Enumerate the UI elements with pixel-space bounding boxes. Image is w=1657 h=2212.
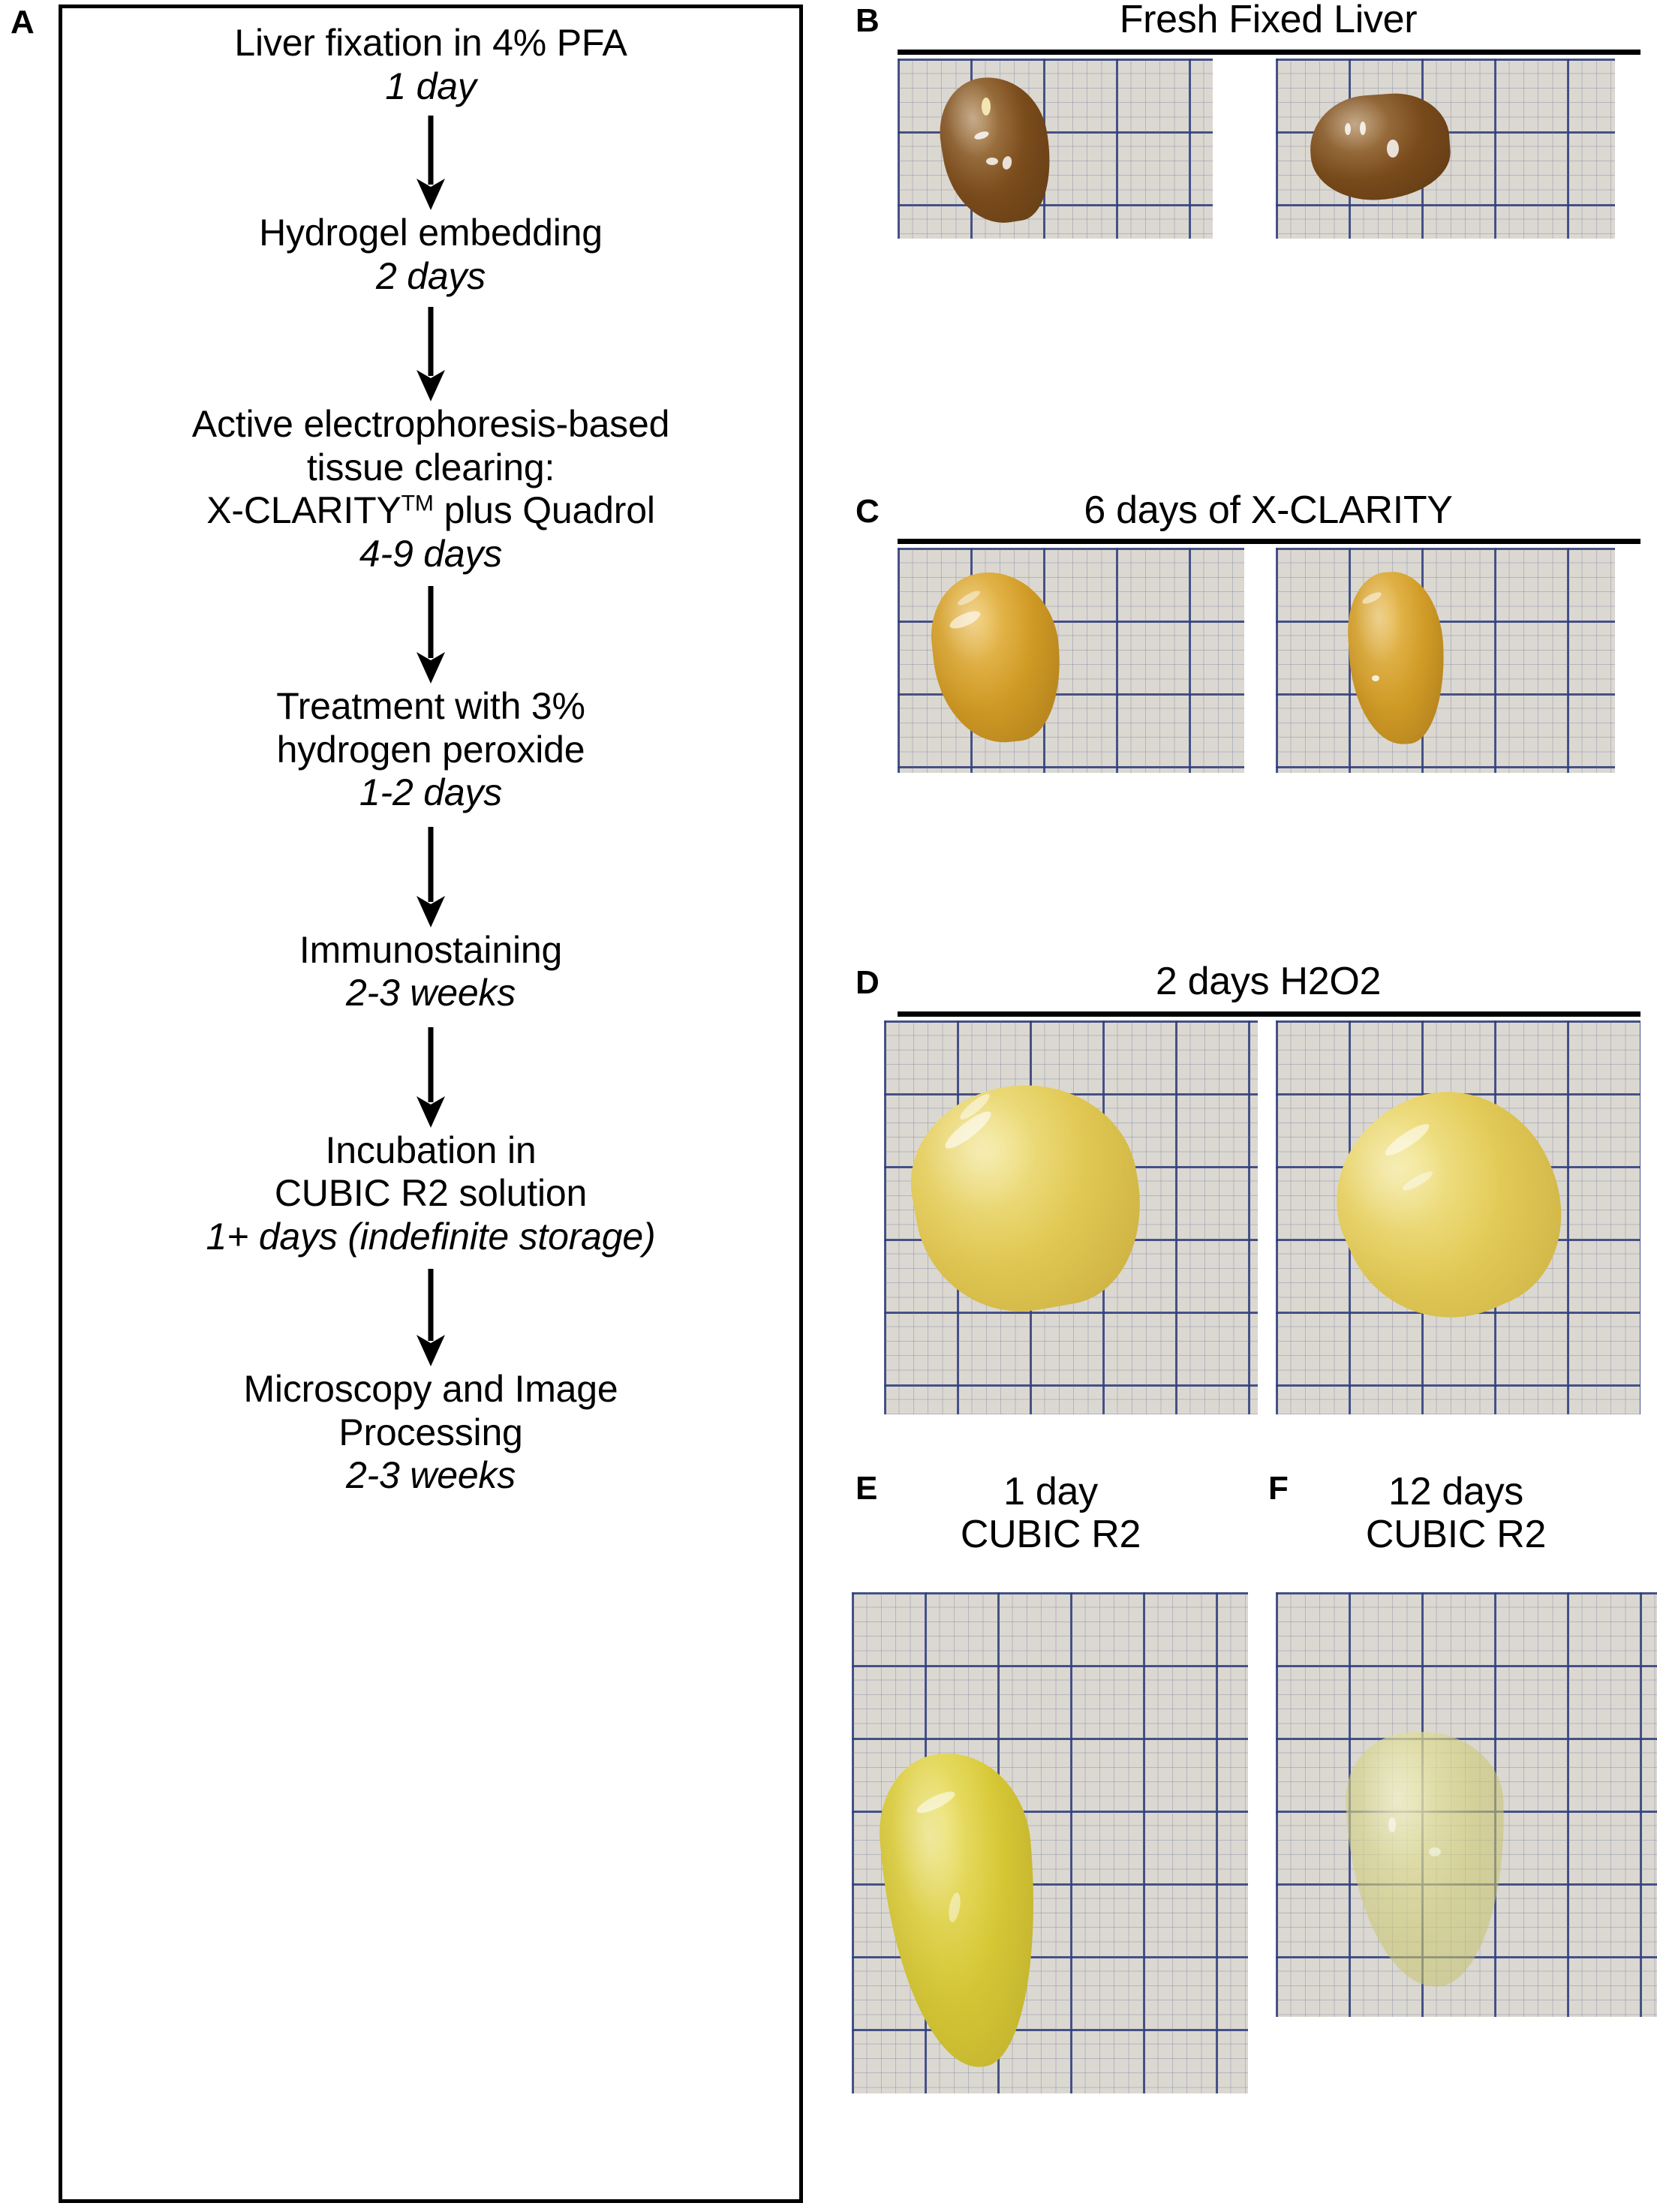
flow-arrow-5: [413, 1027, 448, 1129]
specimen-highlight: [986, 158, 998, 165]
step-label-line: Microscopy and Image: [62, 1368, 799, 1411]
panel-f-title-line-2: CUBIC R2: [1268, 1513, 1643, 1556]
step-duration: 2-3 weeks: [62, 1454, 799, 1498]
specimen-highlight: [982, 98, 991, 116]
panel-letter-d: D: [856, 966, 880, 999]
panel-d-image-right: [1276, 1020, 1640, 1414]
flow-step-tissue-clearing: Active electrophoresis-based tissue clea…: [62, 403, 799, 576]
panel-d-title: 2 days H2O2: [893, 960, 1643, 1003]
panel-letter-a: A: [11, 6, 35, 39]
step-label-line: Hydrogel embedding: [62, 212, 799, 255]
step-label-line-trademark: X-CLARITYTM plus Quadrol: [62, 489, 799, 533]
flow-arrow-3: [413, 586, 448, 685]
panel-letter-c: C: [856, 495, 880, 528]
panel-d-image-left: [884, 1020, 1258, 1414]
graph-paper-fine-grid: [1276, 548, 1615, 773]
flow-step-hydrogel-embedding: Hydrogel embedding 2 days: [62, 212, 799, 298]
panel-b-image-right: [1276, 59, 1615, 239]
step-label-line: tissue clearing:: [62, 446, 799, 490]
xclarity-tail: plus Quadrol: [434, 489, 655, 531]
workflow-flowchart: Liver fixation in 4% PFA 1 day Hydrogel …: [59, 5, 803, 2203]
panel-c-image-right: [1276, 548, 1615, 773]
flow-step-hydrogen-peroxide: Treatment with 3% hydrogen peroxide 1-2 …: [62, 685, 799, 815]
panel-e-title-line-2: CUBIC R2: [856, 1513, 1246, 1556]
trademark-superscript: TM: [401, 491, 434, 516]
panel-b-title-rule: [898, 50, 1640, 55]
flow-arrow-6: [413, 1269, 448, 1368]
panel-e-title-line-1: 1 day: [856, 1471, 1246, 1513]
step-duration: 2 days: [62, 255, 799, 299]
panel-d-title-rule: [898, 1011, 1640, 1017]
specimen-highlight: [1345, 123, 1351, 135]
specimen-highlight: [1360, 122, 1366, 135]
specimen-highlight: [1372, 675, 1379, 681]
step-label-line: Immunostaining: [62, 929, 799, 972]
flow-step-liver-fixation: Liver fixation in 4% PFA 1 day: [62, 22, 799, 108]
panel-e-image: [852, 1592, 1248, 2093]
specimen-highlight: [1429, 1847, 1441, 1856]
panel-f-image: [1276, 1592, 1657, 2017]
flow-arrow-4: [413, 827, 448, 929]
flow-step-microscopy: Microscopy and Image Processing 2-3 week…: [62, 1368, 799, 1498]
step-duration: 1-2 days: [62, 771, 799, 815]
xclarity-wordmark: X-CLARITY: [206, 489, 401, 531]
panel-letter-b: B: [856, 5, 880, 38]
panel-f-title: 12 days CUBIC R2: [1268, 1471, 1643, 1556]
panel-c-image-left: [898, 548, 1244, 773]
flow-arrow-1: [413, 116, 448, 212]
flow-step-immunostaining: Immunostaining 2-3 weeks: [62, 929, 799, 1015]
flow-arrow-2: [413, 307, 448, 403]
specimen-highlight: [1388, 1817, 1396, 1832]
step-duration: 2-3 weeks: [62, 972, 799, 1015]
panel-f-title-line-1: 12 days: [1268, 1471, 1643, 1513]
step-label-line: Liver fixation in 4% PFA: [62, 22, 799, 65]
panel-c-title-rule: [898, 539, 1640, 544]
step-label-line: Treatment with 3%: [62, 685, 799, 729]
step-duration: 4-9 days: [62, 533, 799, 576]
step-duration: 1 day: [62, 65, 799, 109]
step-label-line: hydrogen peroxide: [62, 729, 799, 772]
flowchart-steps: Liver fixation in 4% PFA 1 day Hydrogel …: [62, 8, 799, 2199]
panel-b-image-left: [898, 59, 1213, 239]
panel-e-title: 1 day CUBIC R2: [856, 1471, 1246, 1556]
step-label-line: Incubation in: [62, 1129, 799, 1173]
step-label-line: Processing: [62, 1411, 799, 1455]
step-label-line: CUBIC R2 solution: [62, 1172, 799, 1216]
specimen-highlight: [1387, 140, 1399, 158]
step-duration: 1+ days (indefinite storage): [62, 1216, 799, 1259]
panel-b-title: Fresh Fixed Liver: [893, 0, 1643, 41]
flow-step-cubic-incubation: Incubation in CUBIC R2 solution 1+ days …: [62, 1129, 799, 1259]
step-label-line: Active electrophoresis-based: [62, 403, 799, 446]
panel-c-title: 6 days of X-CLARITY: [893, 489, 1643, 532]
